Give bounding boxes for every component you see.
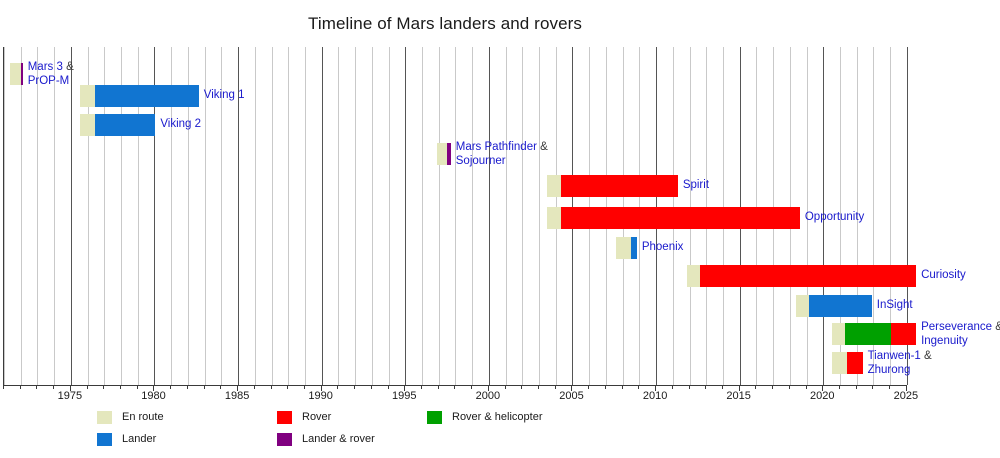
timeline-bar-segment-enroute [10,63,20,85]
x-axis-tick-label: 2010 [643,390,667,402]
gridline-minor [21,47,22,385]
x-axis-tick [120,385,121,389]
timeline-bar [10,63,22,85]
legend-label: En route [122,410,164,424]
timeline-bar [437,143,450,165]
gridline-minor [4,47,5,385]
legend-swatch-icon [277,433,292,446]
gridline-minor [439,47,440,385]
gridline-minor [54,47,55,385]
legend-label: Rover & helicopter [452,410,543,424]
gridline-minor [422,47,423,385]
timeline-bar-label: Mars 3 &PrOP-M [28,61,74,88]
timeline-bar [80,114,155,136]
timeline-bar-segment-enroute [616,237,631,259]
timeline-bar [832,323,916,345]
x-axis-tick [337,385,338,389]
x-axis-tick [672,385,673,389]
gridline-minor [305,47,306,385]
x-axis-tick [772,385,773,389]
x-axis-tick [705,385,706,389]
x-axis-tick [755,385,756,389]
gridline-minor [355,47,356,385]
timeline-bar [547,175,678,197]
gridline-minor [506,47,507,385]
x-axis-tick-label: 1990 [308,390,332,402]
x-axis-tick [354,385,355,389]
x-axis-tick [3,385,4,389]
gridline-minor [539,47,540,385]
x-axis-tick [53,385,54,389]
gridline-major [71,47,72,385]
x-axis-tick [254,385,255,389]
x-axis-tick-label: 1975 [58,390,82,402]
timeline-bar-segment-lander [95,85,199,107]
x-axis-tick [137,385,138,389]
x-axis-tick [872,385,873,389]
x-axis-tick [87,385,88,389]
x-axis-tick-label: 1985 [225,390,249,402]
legend-swatch-icon [97,411,112,424]
timeline-bar-label: Perseverance &Ingenuity [921,321,1000,348]
x-axis-tick [170,385,171,389]
timeline-bar [832,352,862,374]
timeline-bar-label: Viking 1 [204,89,245,103]
x-axis-tick-label: 2000 [476,390,500,402]
timeline-bar-segment-rover [700,265,917,287]
x-axis-tick [304,385,305,389]
x-axis-tick [220,385,221,389]
plot-area: Mars 3 &PrOP-MViking 1Viking 2Mars Pathf… [3,47,906,385]
gridline-minor [472,47,473,385]
timeline-bar-segment-enroute [80,85,95,107]
timeline-bar-segment-enroute [80,114,95,136]
chart-title: Timeline of Mars landers and rovers [0,14,890,34]
x-axis-tick [638,385,639,389]
timeline-bar-label: InSight [877,299,913,313]
x-axis-tick [689,385,690,389]
timeline-bar-label: Curiosity [921,269,966,283]
x-axis-tick [538,385,539,389]
gridline-minor [272,47,273,385]
x-axis-tick [839,385,840,389]
timeline-bar-segment-rover [561,175,678,197]
x-axis-tick [505,385,506,389]
timeline-bar-segment-lander [631,237,637,259]
x-axis-tick [103,385,104,389]
timeline-bar-segment-enroute [796,295,809,317]
x-axis-tick [371,385,372,389]
timeline-bar-segment-enroute [437,143,447,165]
x-axis-tick [388,385,389,389]
timeline-bar-label: Phoenix [642,241,684,255]
x-axis-tick [438,385,439,389]
x-axis-tick-label: 2020 [810,390,834,402]
legend-label: Lander & rover [302,432,375,446]
legend-label: Rover [302,410,331,424]
x-axis-tick [856,385,857,389]
x-axis-tick [605,385,606,389]
legend-swatch-icon [97,433,112,446]
x-axis-tick [271,385,272,389]
x-axis-tick-label: 2025 [894,390,918,402]
timeline-bar-segment-roverheli [845,323,892,345]
gridline-minor [372,47,373,385]
timeline-bar-label: Viking 2 [160,118,201,132]
timeline-bar-segment-enroute [547,175,561,197]
x-axis-tick-label: 2015 [726,390,750,402]
timeline-bar-label: Mars Pathfinder &Sojourner [456,141,548,168]
x-axis-tick [471,385,472,389]
x-axis-tick [204,385,205,389]
timeline-bar-segment-rover [847,352,862,374]
gridline-minor [37,47,38,385]
timeline-bar [80,85,198,107]
x-axis-tick [588,385,589,389]
x-axis-tick [187,385,188,389]
gridline-minor [288,47,289,385]
gridline-minor [255,47,256,385]
timeline-bar-label: Opportunity [805,211,864,225]
x-axis-tick-label: 1980 [141,390,165,402]
gridline-minor [455,47,456,385]
timeline-bar-segment-enroute [832,323,844,345]
x-axis-tick [622,385,623,389]
timeline-bar-label: Spirit [683,179,709,193]
x-axis-tick [806,385,807,389]
timeline-bar-segment-enroute [687,265,699,287]
timeline-bar [687,265,916,287]
timeline-bar [547,207,800,229]
timeline-bar-segment-landerrover [21,63,23,85]
gridline-major [489,47,490,385]
x-axis-tick-label: 2005 [559,390,583,402]
x-axis-tick [722,385,723,389]
x-axis-tick [555,385,556,389]
x-axis-tick [521,385,522,389]
timeline-bar-segment-lander [95,114,155,136]
gridline-major [405,47,406,385]
x-axis-tick [20,385,21,389]
timeline-bar [616,237,637,259]
timeline-bar-label: Tianwen-1 &Zhurong [868,350,932,377]
timeline-bar-segment-enroute [547,207,561,229]
x-axis-tick [36,385,37,389]
gridline-major [322,47,323,385]
timeline-chart: Timeline of Mars landers and rovers Mars… [0,0,1000,458]
timeline-bar [796,295,872,317]
x-axis-tick [889,385,890,389]
x-axis-tick [421,385,422,389]
timeline-bar-segment-rover [891,323,916,345]
timeline-bar-segment-rover [561,207,800,229]
timeline-bar-segment-lander [809,295,872,317]
x-axis-tick [454,385,455,389]
chart-legend: En routeLanderRoverLander & roverRover &… [97,410,547,454]
timeline-bar-segment-landerrover [447,143,451,165]
x-axis-tick [789,385,790,389]
timeline-bar-segment-enroute [832,352,847,374]
legend-swatch-icon [427,411,442,424]
gridline-minor [338,47,339,385]
x-axis-tick-label: 1995 [392,390,416,402]
legend-label: Lander [122,432,156,446]
legend-swatch-icon [277,411,292,424]
gridline-minor [522,47,523,385]
gridline-minor [389,47,390,385]
x-axis-tick [287,385,288,389]
